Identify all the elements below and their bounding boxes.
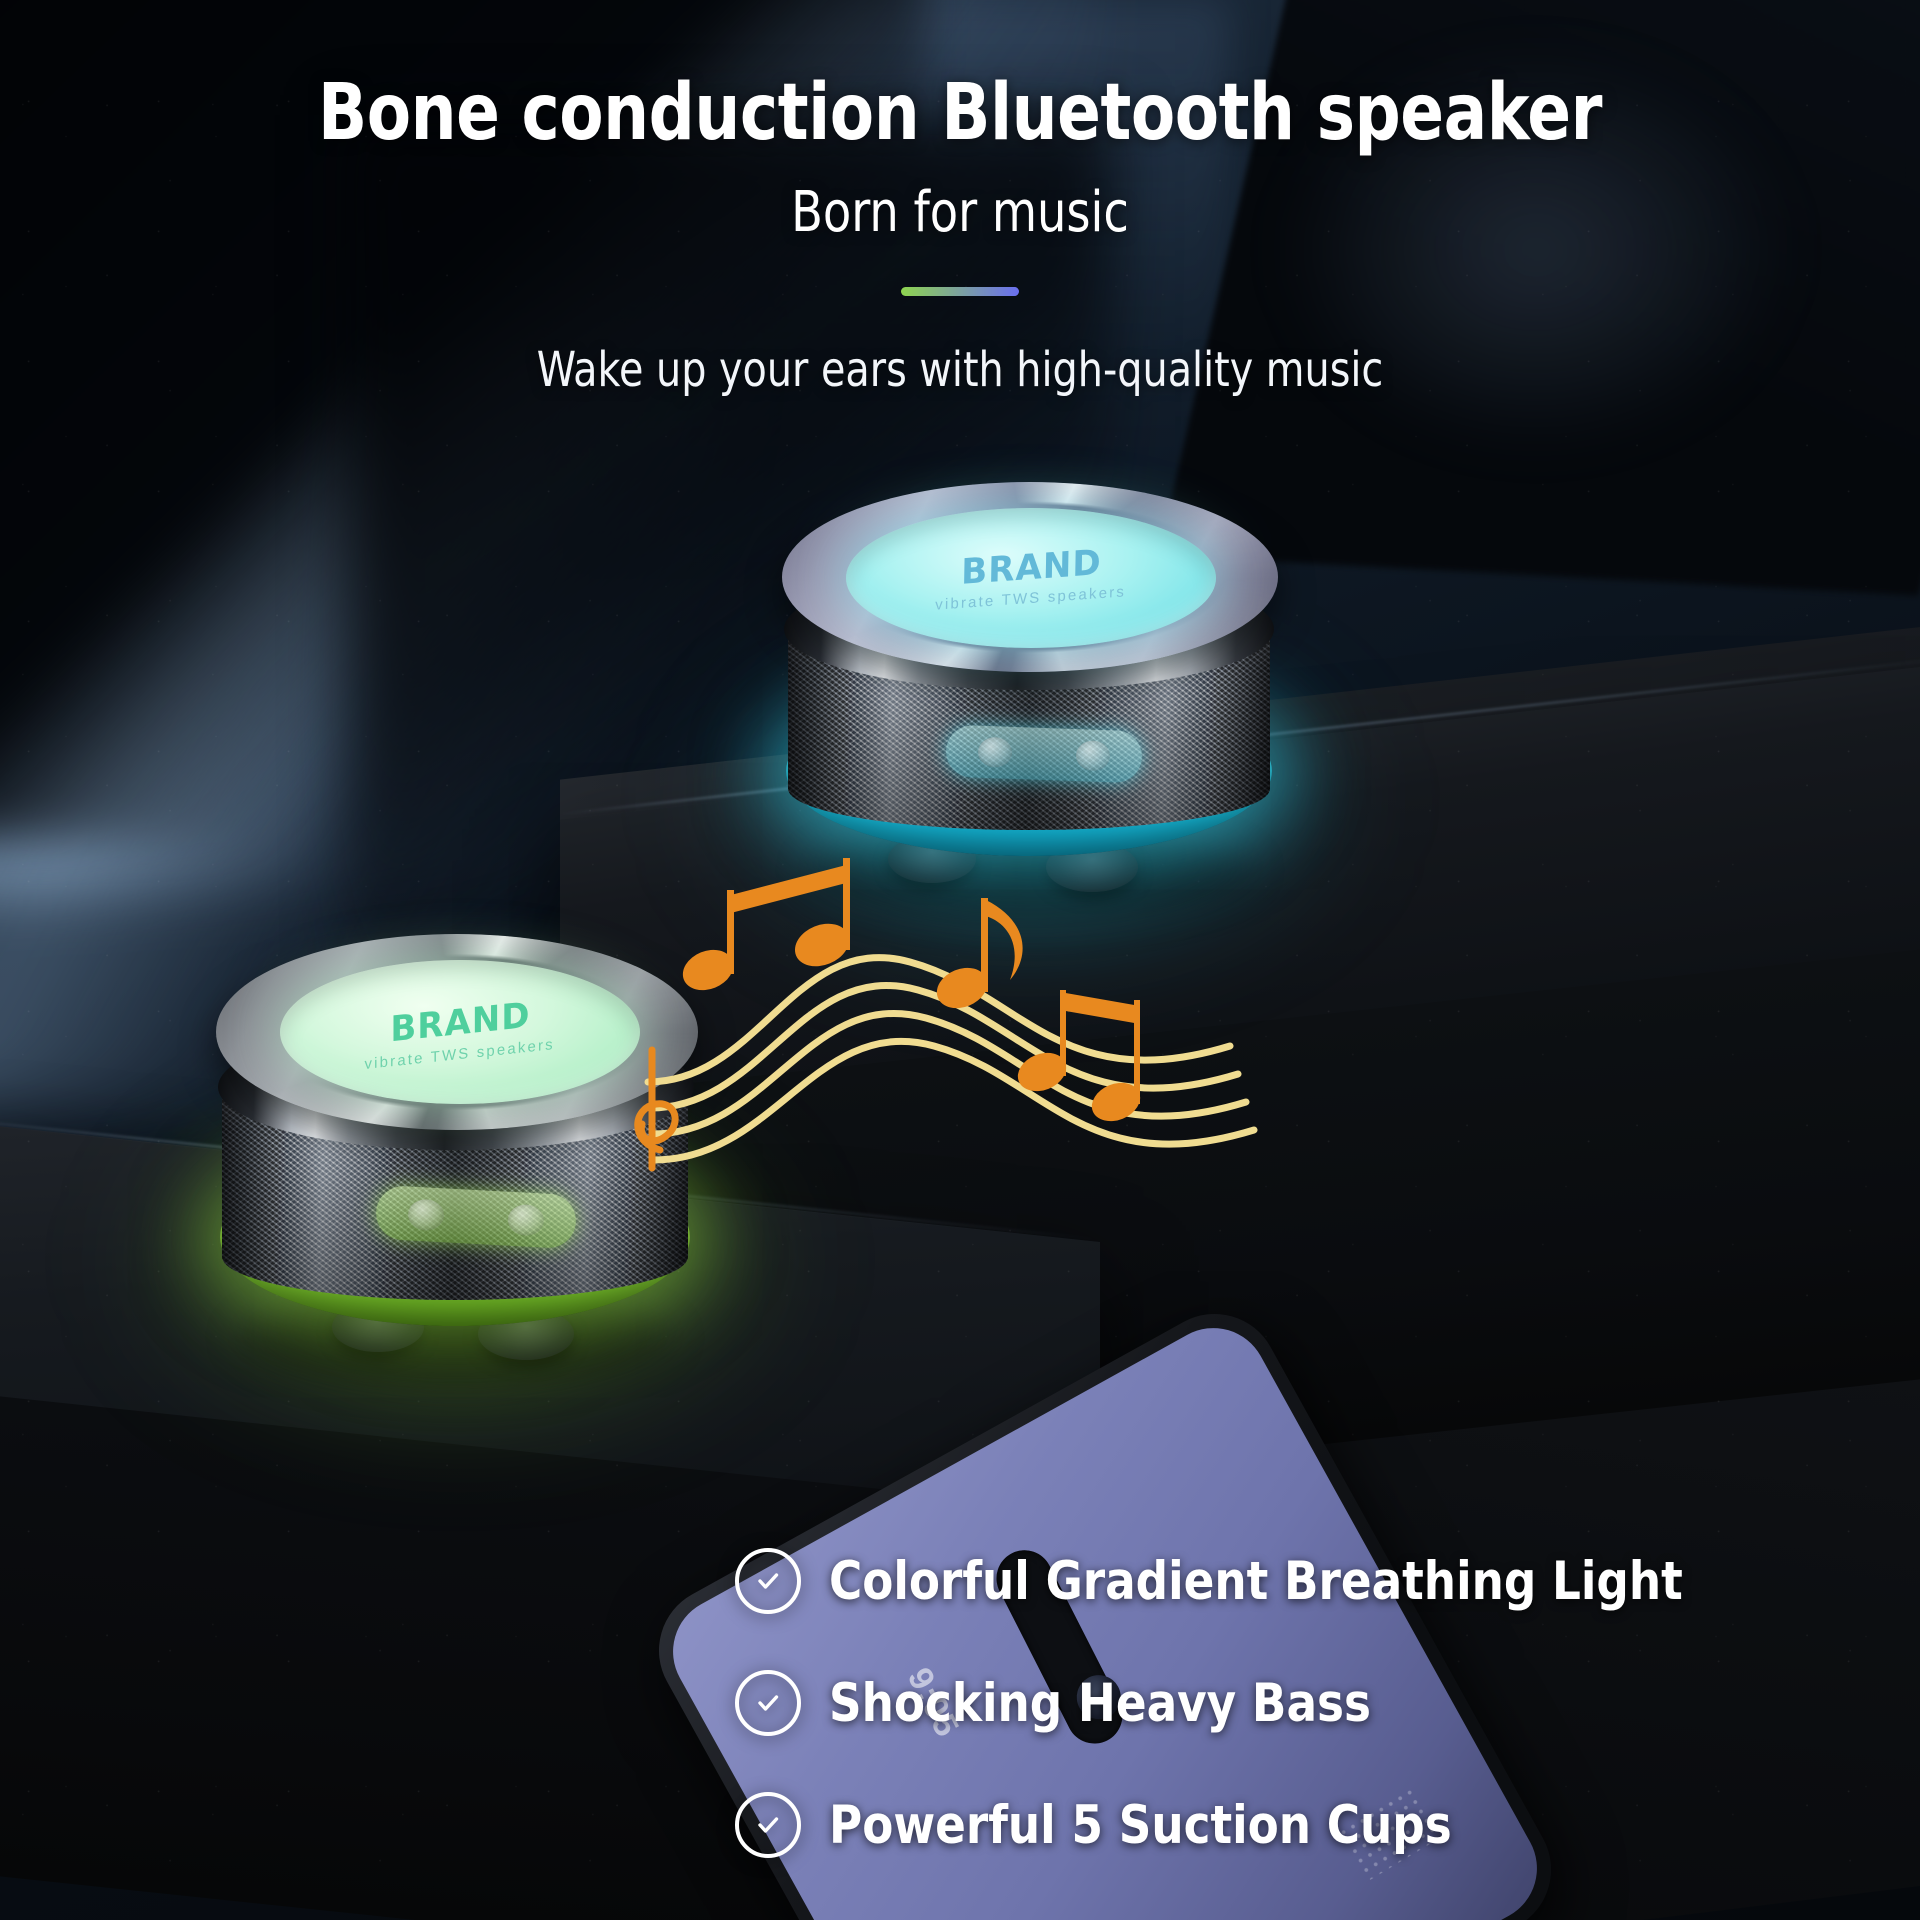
speaker-green-light-face: BRAND vibrate TWS speakers (280, 960, 640, 1104)
speaker-green-button[interactable] (507, 1203, 545, 1236)
poster-header: Bone conduction Bluetooth speaker Born f… (0, 0, 1920, 398)
speaker-green-control-panel[interactable] (375, 1185, 578, 1249)
page-tagline: Wake up your ears with high-quality musi… (77, 296, 1843, 398)
speaker-cyan-control-panel[interactable] (945, 725, 1143, 784)
feature-label: Shocking Heavy Bass (829, 1673, 1371, 1734)
speaker-green: BRAND vibrate TWS speakers (200, 910, 720, 1380)
speaker-green-button[interactable] (407, 1198, 445, 1231)
feature-label: Colorful Gradient Breathing Light (829, 1551, 1683, 1612)
speaker-cyan: BRAND vibrate TWS speakers (760, 460, 1300, 920)
page-title: Bone conduction Bluetooth speaker (77, 0, 1843, 158)
speaker-cyan-button[interactable] (978, 737, 1013, 768)
speaker-cyan-brand-label: BRAND (960, 545, 1101, 590)
product-ad-poster: 9:05 (0, 0, 1920, 1920)
speaker-cyan-light-face: BRAND vibrate TWS speakers (846, 508, 1216, 648)
feature-item: Powerful 5 Suction Cups (735, 1792, 1728, 1858)
gradient-divider (901, 287, 1019, 296)
feature-label: Powerful 5 Suction Cups (829, 1795, 1452, 1856)
speaker-cyan-button[interactable] (1075, 740, 1110, 771)
feature-list: Colorful Gradient Breathing Light Shocki… (735, 1548, 1728, 1858)
page-subtitle: Born for music (77, 158, 1843, 245)
divider-wrapper (0, 245, 1920, 296)
feature-item: Colorful Gradient Breathing Light (735, 1548, 1728, 1614)
check-circle-icon (735, 1670, 801, 1736)
feature-item: Shocking Heavy Bass (735, 1670, 1728, 1736)
check-circle-icon (735, 1792, 801, 1858)
check-circle-icon (735, 1548, 801, 1614)
